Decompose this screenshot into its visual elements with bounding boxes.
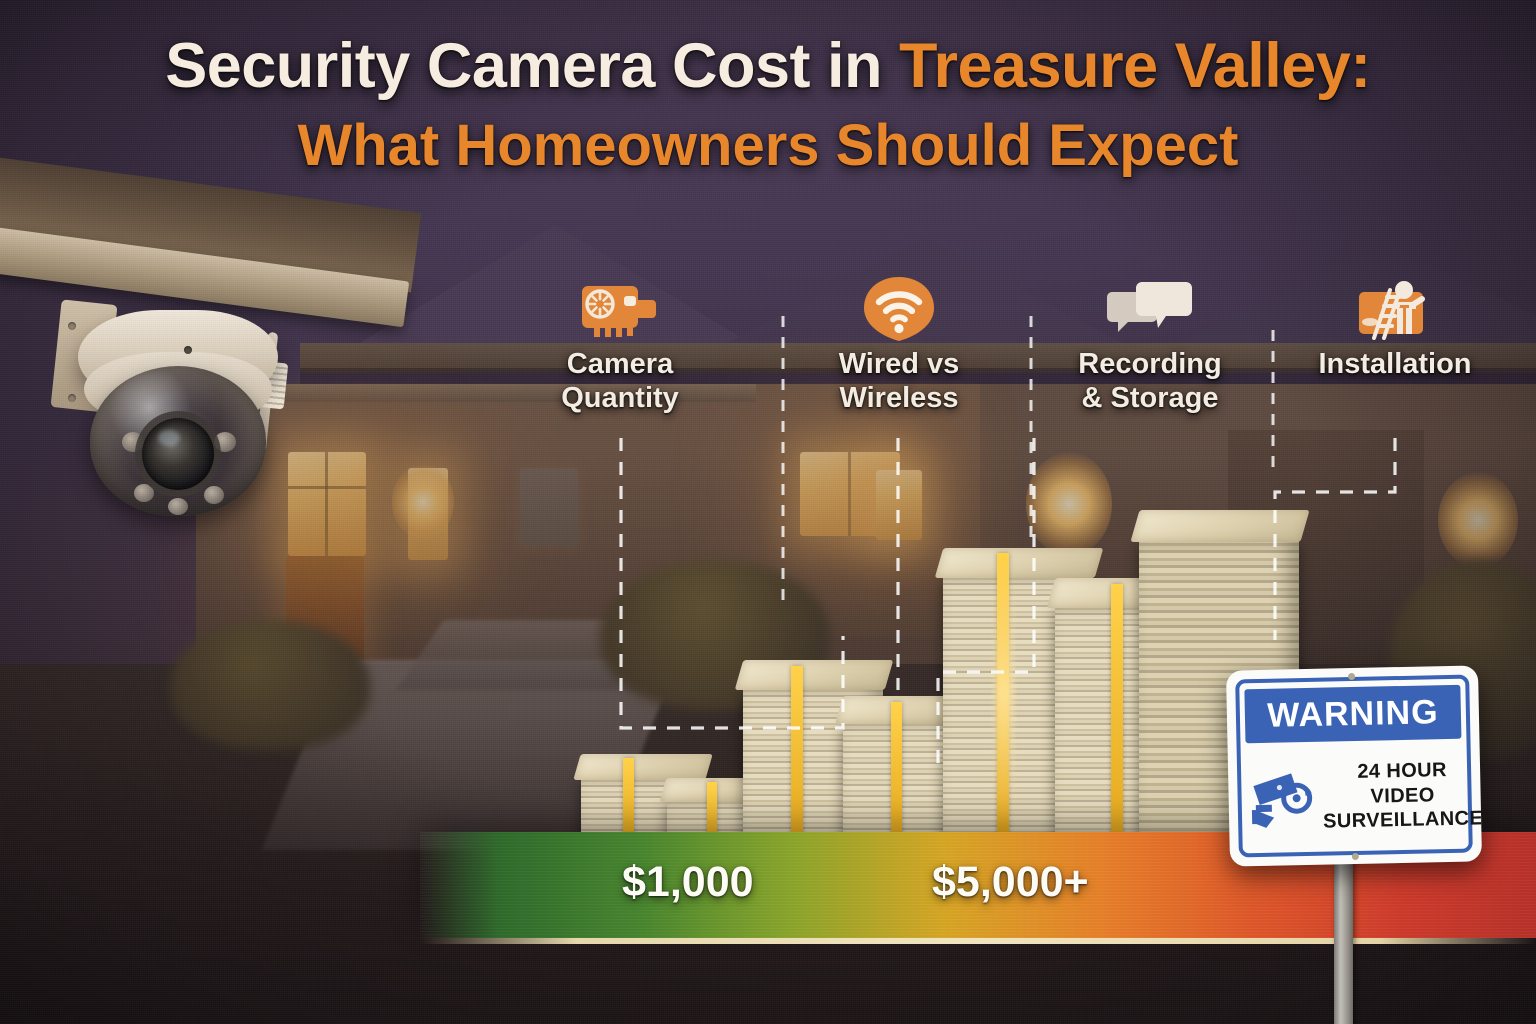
warning-sign: WARNING 24 HOUR (1226, 665, 1482, 866)
warning-sign-assembly: WARNING 24 HOUR (1228, 668, 1480, 864)
bill-band (1111, 584, 1123, 838)
feature-label: Installation (1295, 348, 1495, 382)
sign-line-1: 24 HOUR (1322, 758, 1482, 786)
feature-row: Camera Quantity Wired vs Wireless (0, 278, 1536, 438)
infographic-poster: Security Camera Cost in Treasure Valley:… (0, 0, 1536, 1024)
feature-label: Camera Quantity (516, 348, 724, 416)
bill-pile-top (935, 548, 1104, 578)
page-title: Security Camera Cost in Treasure Valley: (0, 34, 1536, 100)
speech-bubbles-icon (1045, 278, 1255, 340)
feature-camera-quantity[interactable]: Camera Quantity (516, 278, 724, 416)
bill-band (891, 702, 902, 838)
title-plain-text: Security Camera Cost in (165, 31, 899, 101)
sign-screw-bottom (1352, 853, 1359, 860)
bill-band (707, 782, 717, 838)
sign-body: 24 HOUR VIDEO SURVEILLANCE (1246, 746, 1468, 849)
title-block: Security Camera Cost in Treasure Valley:… (0, 34, 1536, 176)
bill-pile-top (573, 754, 712, 780)
cost-high-label: $5,000+ (932, 858, 1089, 907)
feature-label: Recording & Storage (1045, 348, 1255, 416)
sign-line-2: VIDEO (1322, 782, 1482, 810)
money-stack-1 (575, 752, 755, 838)
feature-recording-storage[interactable]: Recording & Storage (1045, 278, 1255, 416)
ladder-installer-icon (1295, 278, 1495, 340)
bar-bottom-edge (420, 938, 1536, 944)
bill-pile-top (735, 660, 894, 690)
wifi-icon (795, 278, 1003, 340)
feature-wired-wireless[interactable]: Wired vs Wireless (795, 278, 1003, 416)
surveillance-camera-icon (1246, 765, 1323, 833)
feature-installation[interactable]: Installation (1295, 278, 1495, 382)
stack-glow (995, 558, 1013, 828)
sign-heading-text: WARNING (1267, 695, 1439, 733)
money-stacks (575, 508, 1335, 838)
bill-pile-top (1130, 510, 1309, 542)
cctv-camera-icon (516, 278, 724, 340)
sign-line-3: SURVEILLANCE (1323, 806, 1482, 834)
sign-heading-bar: WARNING (1244, 685, 1461, 744)
sign-text-lines: 24 HOUR VIDEO SURVEILLANCE (1322, 758, 1482, 835)
page-subtitle: What Homeowners Should Expect (0, 116, 1536, 176)
title-accent-text: Treasure Valley: (899, 31, 1371, 101)
cost-low-label: $1,000 (622, 858, 754, 907)
bill-band (623, 758, 634, 838)
bill-band (791, 666, 803, 838)
feature-label: Wired vs Wireless (795, 348, 1003, 416)
